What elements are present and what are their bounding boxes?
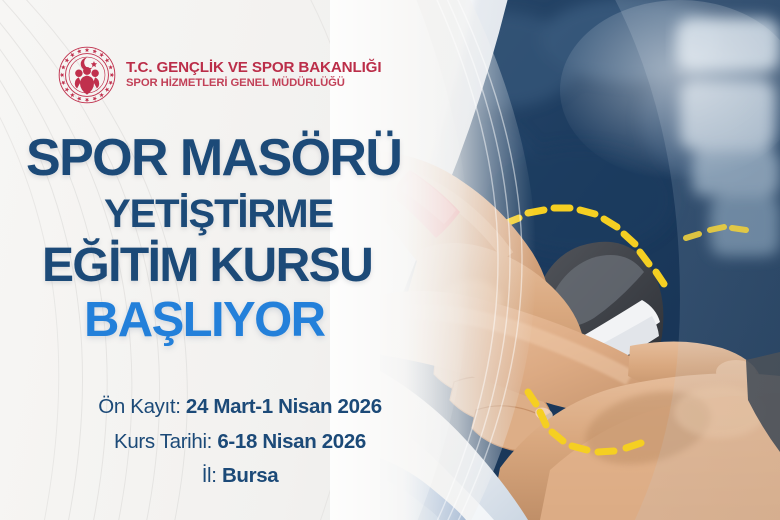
- detail-row-course-date: Kurs Tarihi: 6-18 Nisan 2026: [0, 431, 480, 453]
- detail-value-course-date: 6-18 Nisan 2026: [217, 430, 366, 453]
- headline-line-2: YETİŞTİRME: [104, 194, 430, 234]
- ministry-name-line2: SPOR HİZMETLERİ GENEL MÜDÜRLÜĞÜ: [126, 78, 381, 90]
- ministry-logo-text: T.C. GENÇLİK VE SPOR BAKANLIĞI SPOR HİZM…: [126, 60, 381, 90]
- headline-line-3: EĞİTİM KURSU: [42, 242, 430, 290]
- poster-canvas: T.C. GENÇLİK VE SPOR BAKANLIĞI SPOR HİZM…: [0, 0, 780, 520]
- detail-label-city: İl:: [202, 464, 217, 487]
- detail-row-city: İl: Bursa: [0, 465, 480, 487]
- detail-value-preregistration: 24 Mart-1 Nisan 2026: [186, 395, 382, 418]
- detail-value-city: Bursa: [222, 464, 278, 487]
- ministry-name-line1: T.C. GENÇLİK VE SPOR BAKANLIĞI: [126, 60, 381, 76]
- turkish-ministry-seal-icon: [58, 46, 116, 104]
- headline-block: SPOR MASÖRÜ YETİŞTİRME EĞİTİM KURSU BAŞL…: [0, 132, 430, 345]
- headline-line-1: SPOR MASÖRÜ: [26, 132, 430, 184]
- headline-line-4-accent: BAŞLIYOR: [84, 296, 430, 345]
- detail-label-preregistration: Ön Kayıt:: [98, 395, 180, 418]
- detail-row-preregistration: Ön Kayıt: 24 Mart-1 Nisan 2026: [0, 396, 480, 418]
- detail-label-course-date: Kurs Tarihi:: [114, 430, 212, 453]
- course-details: Ön Kayıt: 24 Mart-1 Nisan 2026 Kurs Tari…: [0, 396, 480, 487]
- ministry-logo: T.C. GENÇLİK VE SPOR BAKANLIĞI SPOR HİZM…: [58, 46, 381, 104]
